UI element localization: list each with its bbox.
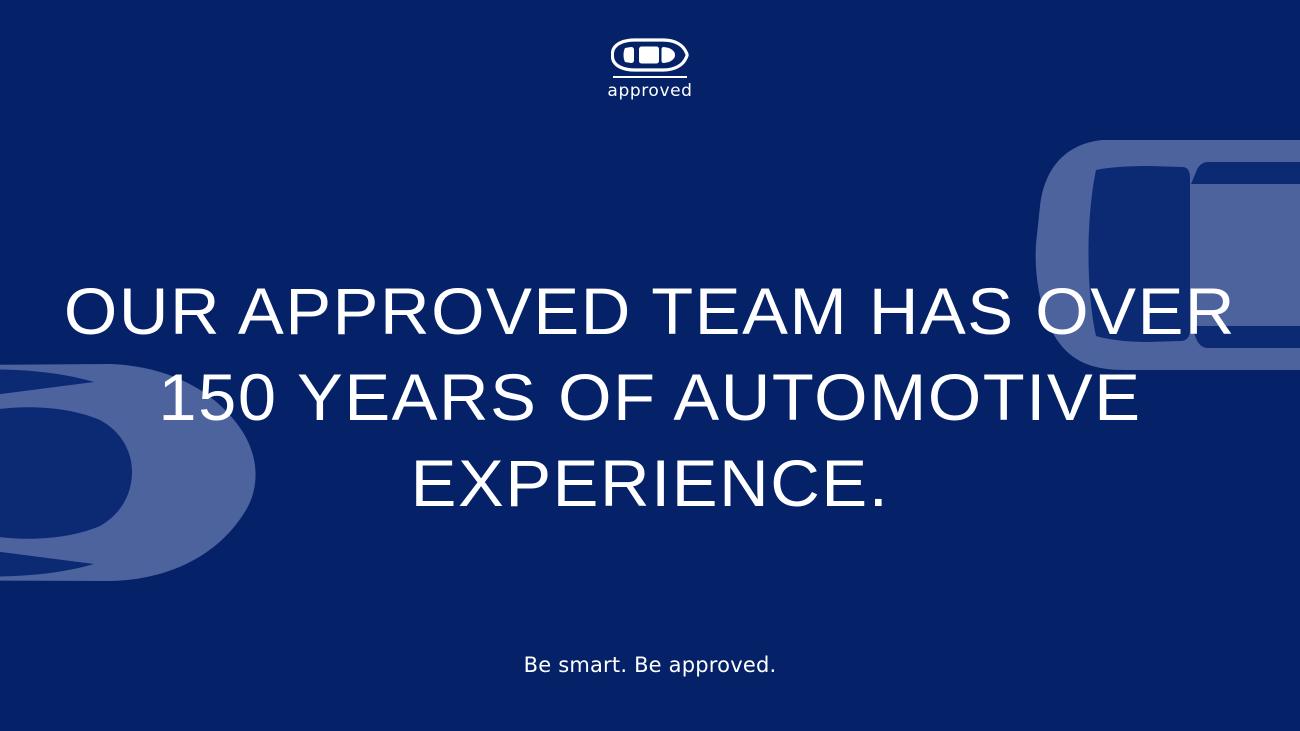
headline-line-3: EXPERIENCE.	[0, 440, 1300, 526]
brand-logo: approved	[0, 38, 1300, 100]
car-top-view-icon	[611, 38, 689, 72]
brand-wordmark: approved	[607, 83, 692, 100]
headline-line-1: OUR APPROVED TEAM HAS OVER	[0, 268, 1300, 354]
brand-divider	[613, 76, 687, 78]
headline-line-2: 150 YEARS OF AUTOMOTIVE	[0, 354, 1300, 440]
slide-canvas: approved OUR APPROVED TEAM HAS OVER 150 …	[0, 0, 1300, 731]
tagline: Be smart. Be approved.	[0, 655, 1300, 676]
page-title: OUR APPROVED TEAM HAS OVER 150 YEARS OF …	[0, 268, 1300, 526]
